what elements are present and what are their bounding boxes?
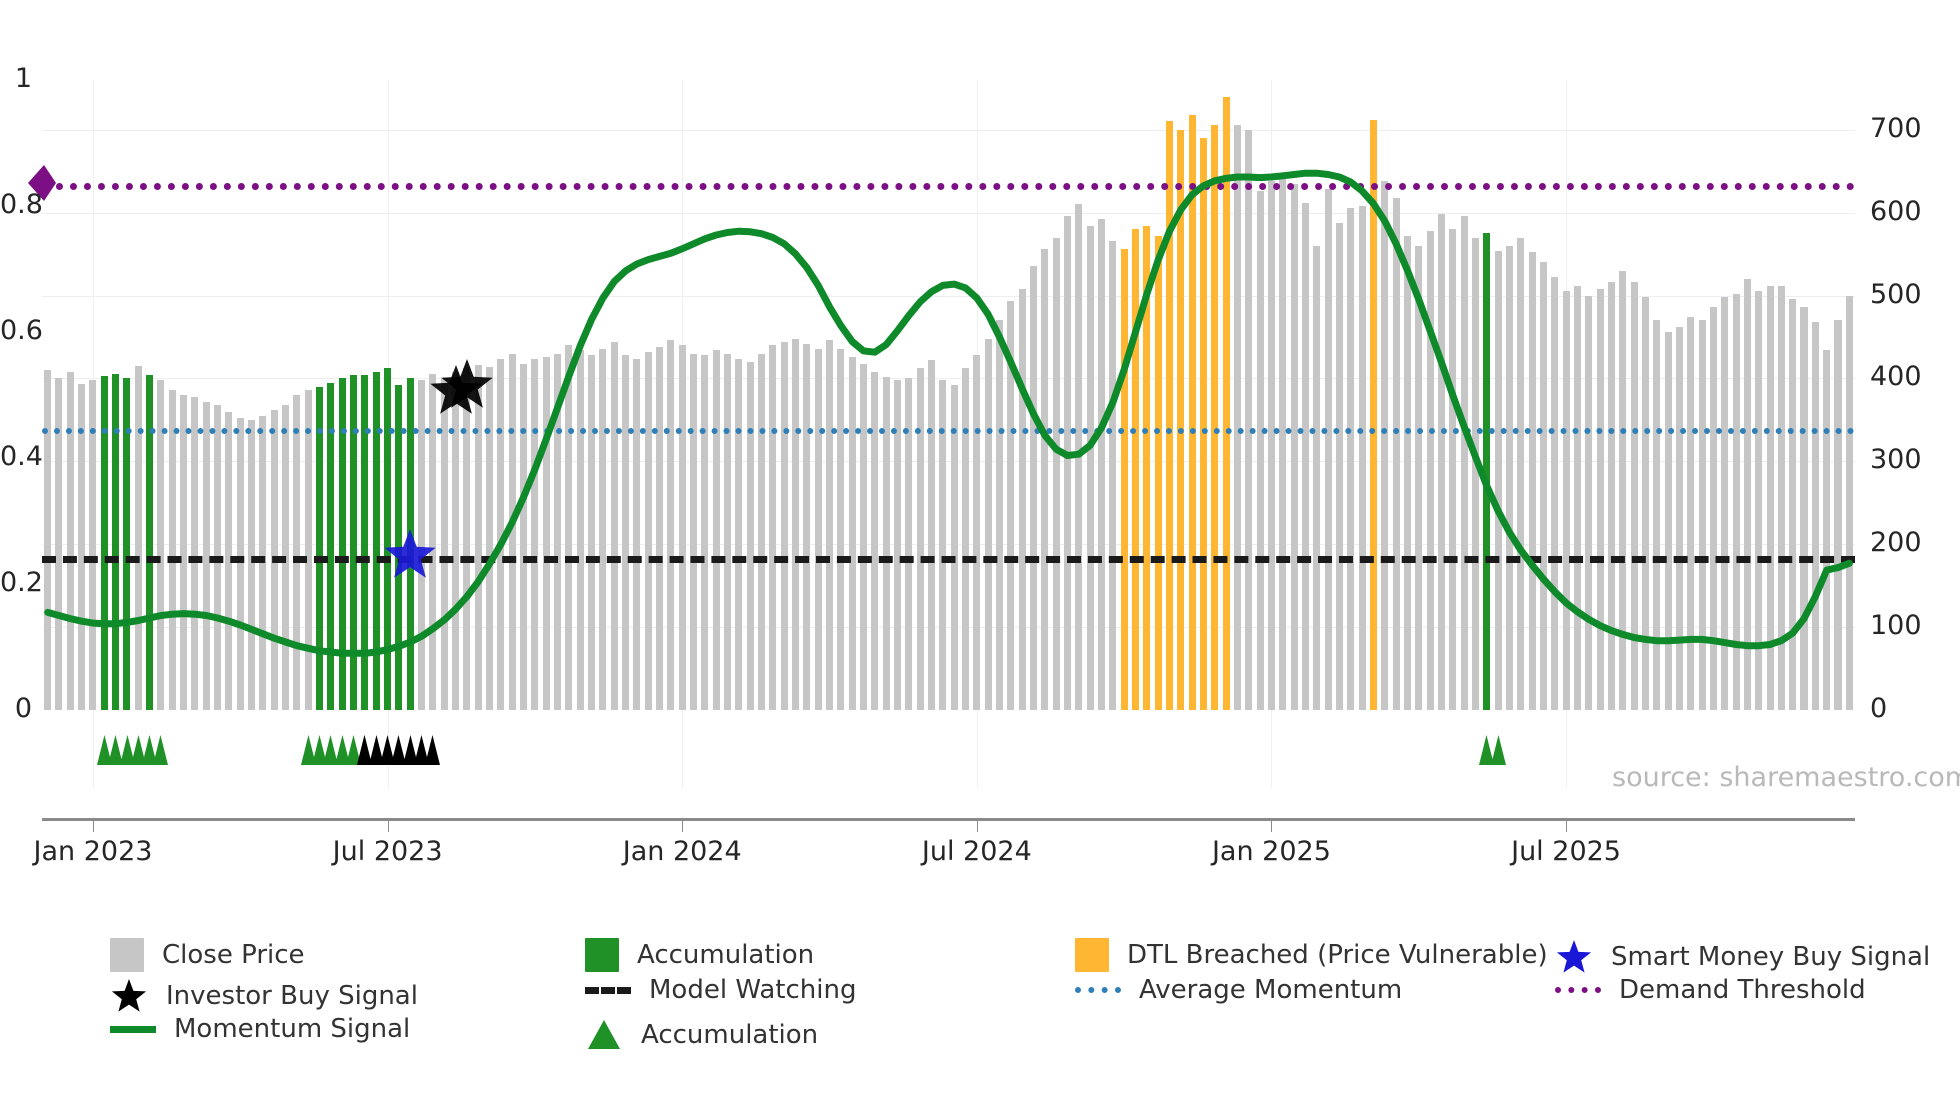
legend-item-average-momentum[interactable]: Average Momentum	[1075, 977, 1402, 1003]
source-watermark: source: sharemaestro.com	[1612, 762, 1960, 793]
x-axis-tick	[1271, 821, 1272, 832]
smart-money-buy-signal-star	[380, 526, 440, 586]
y-axis-right-label-0: 0	[1870, 695, 1887, 722]
legend-item-investor-buy-signal[interactable]: Investor Buy Signal	[110, 977, 418, 1015]
legend-swatch-square-icon	[110, 938, 144, 972]
x-axis-tick-label-3: Jul 2024	[867, 838, 1087, 865]
momentum-price-chart: Jan 2023Jul 2023Jan 2024Jul 2024Jan 2025…	[0, 0, 1960, 1102]
y-axis-right-label-4: 400	[1870, 363, 1922, 390]
x-axis-tick	[682, 821, 683, 832]
legend-item-close-price[interactable]: Close Price	[110, 938, 305, 972]
x-axis-tick	[1566, 821, 1567, 832]
y-axis-right-label-7: 700	[1870, 115, 1922, 142]
legend-swatch-dotted-icon	[1555, 987, 1601, 993]
legend-swatch-square-icon	[585, 938, 619, 972]
legend-swatch-square-icon	[1075, 938, 1109, 972]
legend-item-label: DTL Breached (Price Vulnerable)	[1127, 942, 1548, 968]
y-axis-left-label-5: 1	[0, 65, 32, 92]
x-axis-tick-label-2: Jan 2024	[572, 838, 792, 865]
y-axis-left-label-2: 0.4	[0, 443, 32, 470]
y-axis-right-label-6: 600	[1870, 198, 1922, 225]
legend-item-label: Close Price	[162, 942, 305, 968]
x-axis-tick-label-5: Jul 2025	[1456, 838, 1676, 865]
momentum-signal-line	[42, 80, 1855, 714]
x-axis-tick	[388, 821, 389, 832]
legend-item-label: Model Watching	[649, 977, 856, 1003]
y-axis-left-label-3: 0.6	[0, 317, 32, 344]
x-axis-line	[42, 818, 1855, 821]
legend-swatch-dash-icon	[585, 987, 631, 994]
legend-item-label: Accumulation	[637, 942, 814, 968]
y-axis-right-label-2: 200	[1870, 529, 1922, 556]
x-axis-tick	[977, 821, 978, 832]
legend-swatch-star-icon	[110, 977, 148, 1015]
legend-item-accumulation[interactable]: Accumulation	[585, 1016, 818, 1054]
legend-swatch-dotted-icon	[1075, 987, 1121, 993]
legend-item-smart-money-buy-signal[interactable]: Smart Money Buy Signal	[1555, 938, 1930, 976]
accumulation-triangle-green	[153, 735, 170, 767]
x-axis-tick-label-0: Jan 2023	[0, 838, 203, 865]
accumulation-triangle-green	[1491, 735, 1508, 767]
legend-item-momentum-signal[interactable]: Momentum Signal	[110, 1016, 410, 1042]
y-axis-left-label-4: 0.8	[0, 191, 32, 218]
y-axis-right-label-5: 500	[1870, 281, 1922, 308]
legend-item-label: Investor Buy Signal	[166, 983, 418, 1009]
accumulation-triangle-black	[425, 735, 442, 767]
x-axis-tick-label-1: Jul 2023	[278, 838, 498, 865]
legend-item-label: Average Momentum	[1139, 977, 1402, 1003]
legend-item-demand-threshold[interactable]: Demand Threshold	[1555, 977, 1866, 1003]
x-axis-tick-label-4: Jan 2025	[1161, 838, 1381, 865]
legend-item-label: Demand Threshold	[1619, 977, 1866, 1003]
legend-item-dtl-breached-price-vulnerable[interactable]: DTL Breached (Price Vulnerable)	[1075, 938, 1548, 972]
legend-item-accumulation[interactable]: Accumulation	[585, 938, 814, 972]
legend-item-label: Smart Money Buy Signal	[1611, 944, 1930, 970]
legend-swatch-line-icon	[110, 1026, 156, 1033]
y-axis-left-label-1: 0.2	[0, 569, 32, 596]
y-axis-right-label-1: 100	[1870, 612, 1922, 639]
x-axis-tick	[93, 821, 94, 832]
legend-item-model-watching[interactable]: Model Watching	[585, 977, 856, 1003]
legend-item-label: Momentum Signal	[174, 1016, 410, 1042]
y-axis-left-label-0: 0	[0, 695, 32, 722]
investor-buy-signal-star	[437, 356, 497, 416]
y-axis-right-label-3: 300	[1870, 446, 1922, 473]
legend-swatch-triangle-icon	[585, 1016, 623, 1054]
legend-item-label: Accumulation	[641, 1022, 818, 1048]
legend-swatch-star-icon	[1555, 938, 1593, 976]
